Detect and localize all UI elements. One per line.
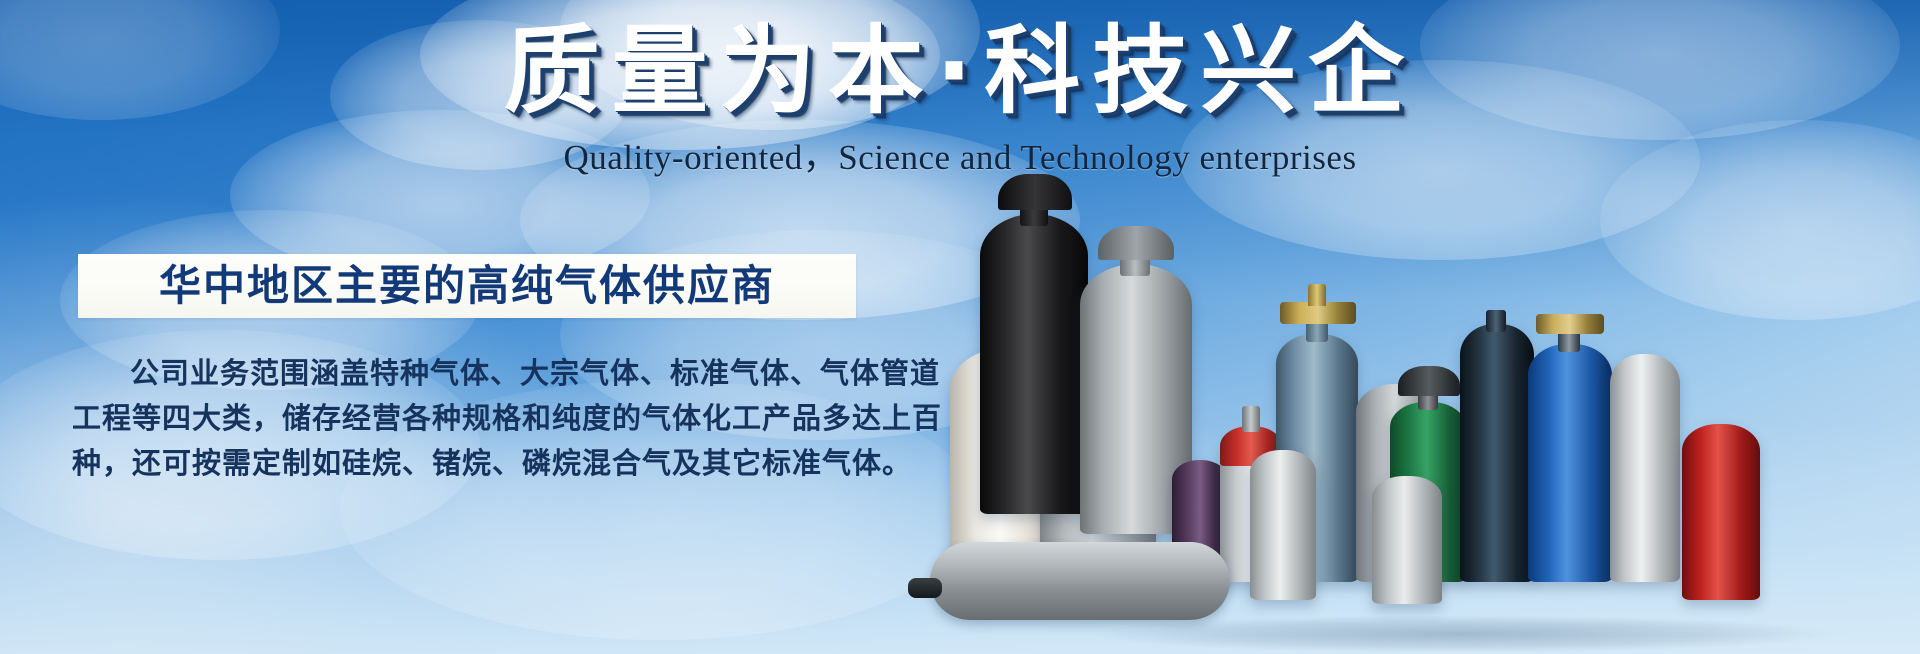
paragraph-line-2: 工程等四大类，储存经营各种规格和纯度的气体化工产品多达上百 [72, 397, 872, 442]
highlight-banner-box: 华中地区主要的高纯气体供应商 [78, 254, 856, 318]
description-paragraph: 公司业务范围涵盖特种气体、大宗气体、标准气体、气体管道 工程等四大类，储存经营各… [72, 352, 872, 487]
headline-container: 质量为本·科技兴企 [0, 12, 1920, 130]
paragraph-line-3: 种，还可按需定制如硅烷、锗烷、磷烷混合气及其它标准气体。 [72, 442, 872, 487]
english-subtitle: Quality-oriented，Science and Technology … [0, 138, 1920, 178]
highlight-banner-text: 华中地区主要的高纯气体供应商 [159, 264, 775, 308]
promotional-banner: 质量为本·科技兴企 Quality-oriented，Science and T… [0, 0, 1920, 654]
headline-primary: 质量为本 [504, 12, 936, 130]
paragraph-line-1: 公司业务范围涵盖特种气体、大宗气体、标准气体、气体管道 [72, 352, 872, 397]
headline-separator-dot: · [936, 12, 984, 130]
headline-secondary: 科技兴企 [984, 12, 1416, 130]
